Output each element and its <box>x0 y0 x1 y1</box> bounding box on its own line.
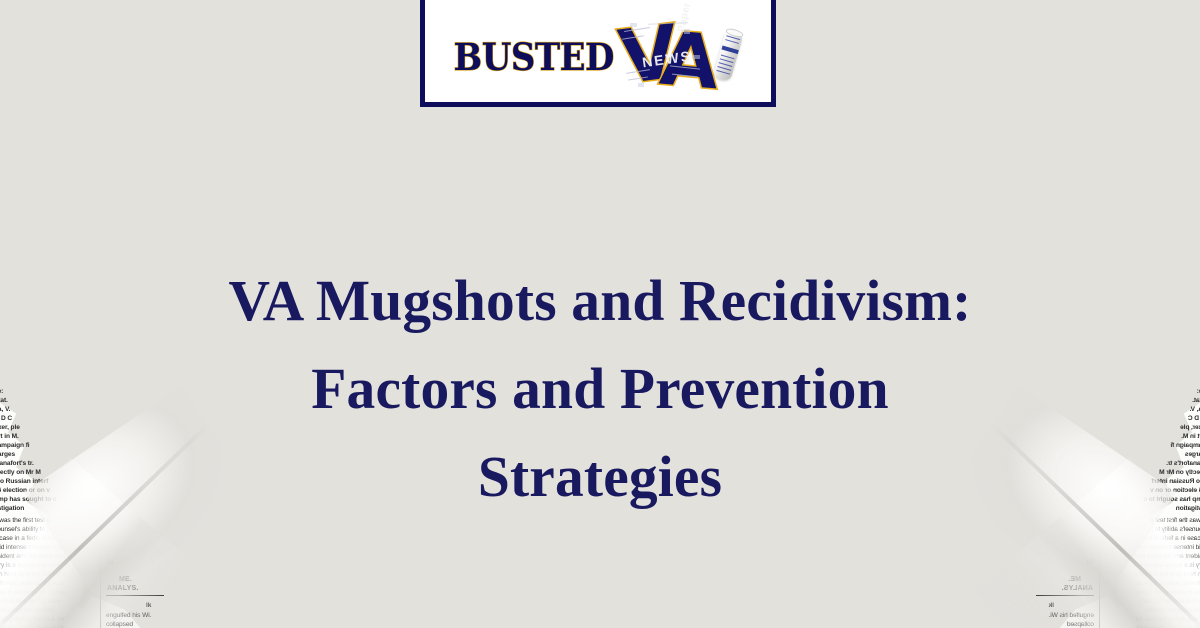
page-title-line-1: VA Mugshots and Recidivism: <box>6 257 1194 345</box>
newsprint-line: mid intense criticism from <box>1134 544 1200 553</box>
newsprint-line: counsel's ability to p <box>0 526 51 535</box>
page-title: VA Mugshots and Recidivism: Factors and … <box>6 257 1194 521</box>
newsprint-line: tch hunt And the outcome <box>1134 571 1200 580</box>
newsprint-line: Tu <box>1087 559 1094 568</box>
newsprint-line: collapsed <box>1067 621 1094 628</box>
page-title-line-3: Strategies <box>6 433 1194 521</box>
newsprint-line: mid intense criticism from <box>0 544 66 553</box>
newsprint-line: re and during the trial, Mr <box>1135 616 1200 625</box>
newsprint-line: ammunition for his cam- <box>1138 598 1200 607</box>
newsprint-line: esident and his allies that <box>1135 553 1200 562</box>
newsprint-line: o discredit Mr Mueller <box>1145 607 1200 616</box>
newsprint-analysis-label: ANALYS. <box>1062 585 1093 592</box>
site-logo-card[interactable]: BUSTED V A NEWS Paper <box>420 0 776 107</box>
page-title-line-2: Factors and Prevention <box>6 345 1194 433</box>
logo-content: BUSTED V A NEWS Paper <box>425 0 771 102</box>
article-banner: ve: Stat. na, V. el D C fixer, ple urt i… <box>0 0 1200 628</box>
newsprint-line: counsel's ability to p <box>1149 526 1200 535</box>
newsprint-line: t. <box>106 550 109 559</box>
newsprint-line: engulfed his Wi. <box>1049 612 1094 621</box>
newsprint-line: lk <box>146 602 151 611</box>
newsprint-kicker: ME. <box>119 576 132 583</box>
newsprint-line: Tu <box>106 559 113 568</box>
newsprint-line: bstantial political implica- <box>1136 580 1200 589</box>
newsprint-column-rule <box>1099 546 1100 628</box>
logo-va-initials: V A NEWS Paper <box>620 15 712 95</box>
newsprint-line: iury is a bused and unjusti- <box>0 562 70 571</box>
roll-band <box>721 45 738 54</box>
newsprint-line: esident and his allies that <box>0 553 65 562</box>
newsprint-column-rule <box>100 546 101 628</box>
newsprint-rule <box>1036 595 1094 596</box>
newsprint-line: o discredit Mr Mueller <box>0 607 55 616</box>
newsprint-kicker: ME. <box>1068 576 1081 583</box>
newsprint-line: bstantial political implica- <box>0 580 64 589</box>
newsprint-line: tch hunt And the outcome <box>0 571 66 580</box>
newsprint-line: ammunition for his cam- <box>0 598 62 607</box>
logo-wordmark-busted: BUSTED <box>454 39 615 77</box>
newsprint-line: ve: <box>0 388 3 397</box>
newsprint-line: engulfed his Wi. <box>106 612 151 621</box>
newsprint-line: iury is a bused and unjusti- <box>1130 562 1200 571</box>
newsprint-analysis-label: ANALYS. <box>107 585 138 592</box>
newsprint-line: t. <box>1091 550 1094 559</box>
newsprint-line: collapsed <box>106 621 133 628</box>
newsprint-rule <box>106 595 164 596</box>
newsprint-line: a case in a federal cou. <box>0 535 60 544</box>
newsprint-line: a case in a federal cou. <box>1140 535 1200 544</box>
newsprint-line: lk <box>1049 602 1054 611</box>
newsprint-line: only in denying Mr Trump <box>1134 589 1200 598</box>
newsprint-line: re and during the trial, Mr <box>0 616 65 625</box>
newsprint-line: only in denying Mr Trump <box>0 589 66 598</box>
